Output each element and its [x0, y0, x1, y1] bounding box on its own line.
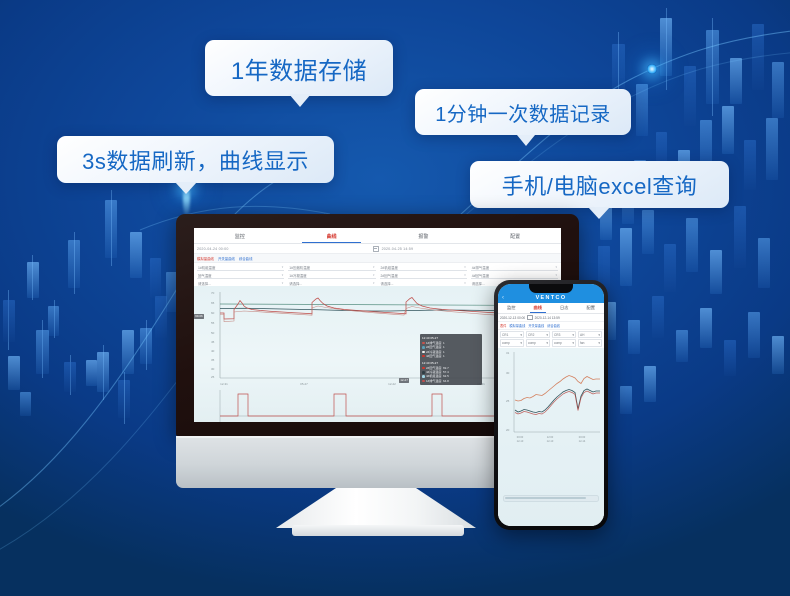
svg-text:31: 31 [506, 351, 510, 355]
svg-text:20: 20 [506, 428, 510, 432]
select-value: CR2 [528, 333, 534, 337]
chevron-down-icon: ▾ [555, 265, 557, 269]
svg-text:12-22: 12-22 [388, 382, 396, 386]
select-value: comp [528, 341, 536, 345]
phone-chip-switch[interactable]: 开关量曲线 [528, 323, 544, 328]
monitor-tabbar: 监控 曲线 报警 配置 [194, 228, 561, 244]
callout-data-record: 1分钟一次数据记录 [415, 89, 631, 135]
tooltip-header: 12:40 05-27 [422, 361, 480, 365]
select-field[interactable]: 1#冷凝温度▾ [288, 272, 375, 279]
select-row: 1#机组温度▾ 1#压缩机温度▾ 2#机组温度▾ 4#排气温度▾ [197, 264, 558, 271]
glow-node-right [647, 64, 657, 74]
chart-range-scrollbar[interactable] [503, 495, 599, 502]
phone-select-field[interactable]: comp▾ [526, 339, 550, 346]
svg-text:12-13: 12-13 [547, 439, 554, 443]
phone-chip-analog[interactable]: 模拟量曲线 [509, 323, 525, 328]
svg-text:30: 30 [211, 367, 215, 371]
phone-select-field[interactable]: CR1▾ [500, 331, 524, 338]
svg-text:12-31: 12-31 [220, 382, 228, 386]
phone-select-field[interactable]: comp▾ [552, 339, 576, 346]
tooltip-label: 4#回气温度: 1 [426, 354, 445, 358]
monitor-date-range[interactable]: 2020-04-24 00:00 2020-04-25 14:59 [194, 244, 561, 254]
svg-text:65: 65 [211, 301, 215, 305]
svg-text:12-13: 12-13 [517, 439, 524, 443]
chip-combined-curve[interactable]: 综合曲线 [239, 256, 253, 261]
select-value: CR3 [554, 333, 560, 337]
svg-text:55: 55 [211, 321, 215, 325]
chevron-down-icon: ▾ [464, 265, 466, 269]
chevron-down-icon: ▾ [282, 281, 284, 285]
phone-select-grid: CR1▾ CR2▾ CR3▾ AH▾ comp▾ comp▾ comp▾ fan… [498, 330, 604, 349]
chip-switch-curve[interactable]: 开关量曲线 [218, 256, 235, 261]
select-value: fan [580, 341, 584, 345]
chevron-down-icon: ▾ [282, 265, 284, 269]
chevron-down-icon: ▾ [373, 273, 375, 277]
select-field[interactable]: 4#排气温度▾ [471, 264, 558, 271]
phone-select-field[interactable]: comp▾ [500, 339, 524, 346]
phone-select-field[interactable]: CR2▾ [526, 331, 550, 338]
phone-tab-monitor[interactable]: 监控 [498, 303, 525, 313]
svg-text:40: 40 [211, 349, 215, 353]
select-field[interactable]: 2#回气温度▾ [380, 272, 467, 279]
poster-stage: 1年数据存储 1分钟一次数据记录 3s数据刷新，曲线显示 手机/电脑excel查… [0, 0, 790, 596]
phone-date-end[interactable]: 2020-12-14 13:59 [535, 316, 560, 320]
callout-text: 手机/电脑excel查询 [502, 169, 697, 201]
svg-text:45: 45 [211, 340, 215, 344]
chevron-down-icon: ▾ [572, 333, 574, 337]
phone-date-start[interactable]: 2020-12-13 00:00 [500, 316, 525, 320]
select-value: 2#回气温度 [381, 273, 398, 278]
select-value: 2#机组温度 [381, 265, 398, 270]
x-axis-highlight-chip: 12-27 [399, 378, 409, 383]
svg-text:50: 50 [211, 331, 215, 335]
select-value: comp [554, 341, 562, 345]
select-field[interactable]: 1#机组温度▾ [197, 264, 284, 271]
chevron-down-icon: ▾ [598, 333, 600, 337]
callout-data-refresh: 3s数据刷新，曲线显示 [57, 136, 334, 183]
svg-text:25: 25 [211, 375, 215, 379]
phone-chip-parts[interactable]: 表件 [500, 323, 506, 328]
callout-tail [289, 94, 311, 107]
phone-select-field[interactable]: fan▾ [578, 339, 602, 346]
chevron-down-icon: ▾ [373, 281, 375, 285]
phone-select-field[interactable]: CR3▾ [552, 331, 576, 338]
phone-screen: ‹ VENTCO 监控 曲线 日志 配置 2020-12-13 00:00 20… [498, 284, 604, 526]
select-value: CR1 [502, 333, 508, 337]
select-value: 4#排气温度 [472, 265, 489, 270]
date-start[interactable]: 2020-04-24 00:00 [197, 247, 229, 251]
select-value: 4#回气温度 [472, 273, 489, 278]
select-value: comp [502, 341, 510, 345]
chevron-down-icon: ▾ [520, 333, 522, 337]
phone-body: ‹ VENTCO 监控 曲线 日志 配置 2020-12-13 00:00 20… [494, 280, 608, 530]
phone-notch [529, 284, 573, 293]
chevron-left-icon[interactable]: ‹ [502, 295, 504, 301]
phone-select-row: CR1▾ CR2▾ CR3▾ AH▾ [500, 331, 602, 338]
phone-chip-row: 表件 模拟量曲线 开关量曲线 综合曲线 [498, 322, 604, 330]
chevron-down-icon: ▾ [555, 273, 557, 277]
callout-excel-query: 手机/电脑excel查询 [470, 161, 729, 208]
select-row: 回气温度▾ 1#冷凝温度▾ 2#回气温度▾ 4#回气温度▾ [197, 272, 558, 279]
select-value: 1#机组温度 [198, 265, 215, 270]
chip-analog-curve[interactable]: 模拟量曲线 [197, 256, 214, 261]
scrollbar-thumb[interactable] [505, 497, 586, 499]
phone-select-field[interactable]: AH▾ [578, 331, 602, 338]
svg-text:00:00: 00:00 [579, 435, 586, 439]
svg-text:60: 60 [211, 311, 215, 315]
tooltip-label: 1#排气温度: 64.8 [426, 379, 449, 383]
svg-text:12-14: 12-14 [579, 439, 586, 443]
phone-tab-curve[interactable]: 曲线 [525, 303, 552, 313]
chevron-down-icon: ▾ [546, 341, 548, 345]
svg-text:70: 70 [211, 291, 215, 295]
tooltip-header: 12:40 05-27 [422, 336, 480, 340]
select-value: 1#压缩机温度 [289, 265, 310, 270]
mobile-phone: ‹ VENTCO 监控 曲线 日志 配置 2020-12-13 00:00 20… [494, 280, 608, 530]
select-field[interactable]: 4#回气温度▾ [471, 272, 558, 279]
select-field[interactable]: 2#机组温度▾ [380, 264, 467, 271]
callout-tail [588, 207, 610, 219]
monitor-chip-row: 模拟量曲线 开关量曲线 综合曲线 [194, 254, 561, 263]
y-axis-value-chip: 69.06 [194, 314, 204, 319]
select-field[interactable]: 回气温度▾ [197, 272, 284, 279]
tooltip-row: 1#排气温度: 64.8 [422, 379, 480, 383]
phone-tab-config[interactable]: 配置 [578, 303, 605, 313]
chevron-down-icon: ▾ [546, 333, 548, 337]
select-value: 1#冷凝温度 [289, 273, 306, 278]
chevron-down-icon: ▾ [464, 281, 466, 285]
monitor-stand-foot [292, 525, 464, 536]
phone-chart-area: 31 30 25 20 00:0012-13 12:0012-13 00:001… [498, 348, 604, 526]
callout-data-storage: 1年数据存储 [205, 40, 393, 96]
date-end[interactable]: 2020-04-25 14:59 [382, 247, 414, 251]
chevron-down-icon: ▾ [373, 265, 375, 269]
select-field[interactable]: 1#压缩机温度▾ [288, 264, 375, 271]
svg-text:00:00: 00:00 [517, 435, 524, 439]
svg-text:35: 35 [211, 358, 215, 362]
chevron-down-icon: ▾ [282, 273, 284, 277]
phone-tabbar: 监控 曲线 日志 配置 [498, 303, 604, 314]
chevron-down-icon: ▾ [520, 341, 522, 345]
tab-alarm[interactable]: 报警 [378, 231, 470, 240]
calendar-icon [373, 246, 379, 252]
chevron-down-icon: ▾ [464, 273, 466, 277]
callout-text: 1分钟一次数据记录 [435, 98, 611, 127]
tab-config[interactable]: 配置 [469, 231, 561, 240]
tab-monitor[interactable]: 监控 [194, 231, 286, 240]
callout-tail [175, 182, 197, 194]
phone-tab-log[interactable]: 日志 [551, 303, 578, 313]
svg-text:30: 30 [506, 371, 510, 375]
phone-date-range[interactable]: 2020-12-13 00:00 2020-12-14 13:59 [498, 314, 604, 322]
svg-text:12:00: 12:00 [547, 435, 554, 439]
select-value: AH [580, 333, 584, 337]
select-value: 回气温度 [198, 273, 212, 278]
svg-text:25: 25 [506, 399, 510, 403]
chevron-down-icon: ▾ [572, 341, 574, 345]
callout-text: 3s数据刷新，曲线显示 [82, 144, 309, 176]
callout-text: 1年数据存储 [231, 51, 367, 86]
svg-text:05-27: 05-27 [300, 382, 308, 386]
chevron-down-icon: ▾ [598, 341, 600, 345]
app-title: VENTCO [536, 295, 567, 301]
phone-select-row: comp▾ comp▾ comp▾ fan▾ [500, 339, 602, 346]
calendar-icon [527, 315, 532, 320]
tab-curve[interactable]: 曲线 [286, 231, 378, 240]
chart-tooltip: 12:40 05-27 1#排气温度: 1 2#回气温度: 1 2#冷凝温度: … [420, 334, 482, 385]
callout-tail [517, 135, 535, 146]
phone-chip-combined[interactable]: 综合曲线 [547, 323, 560, 328]
